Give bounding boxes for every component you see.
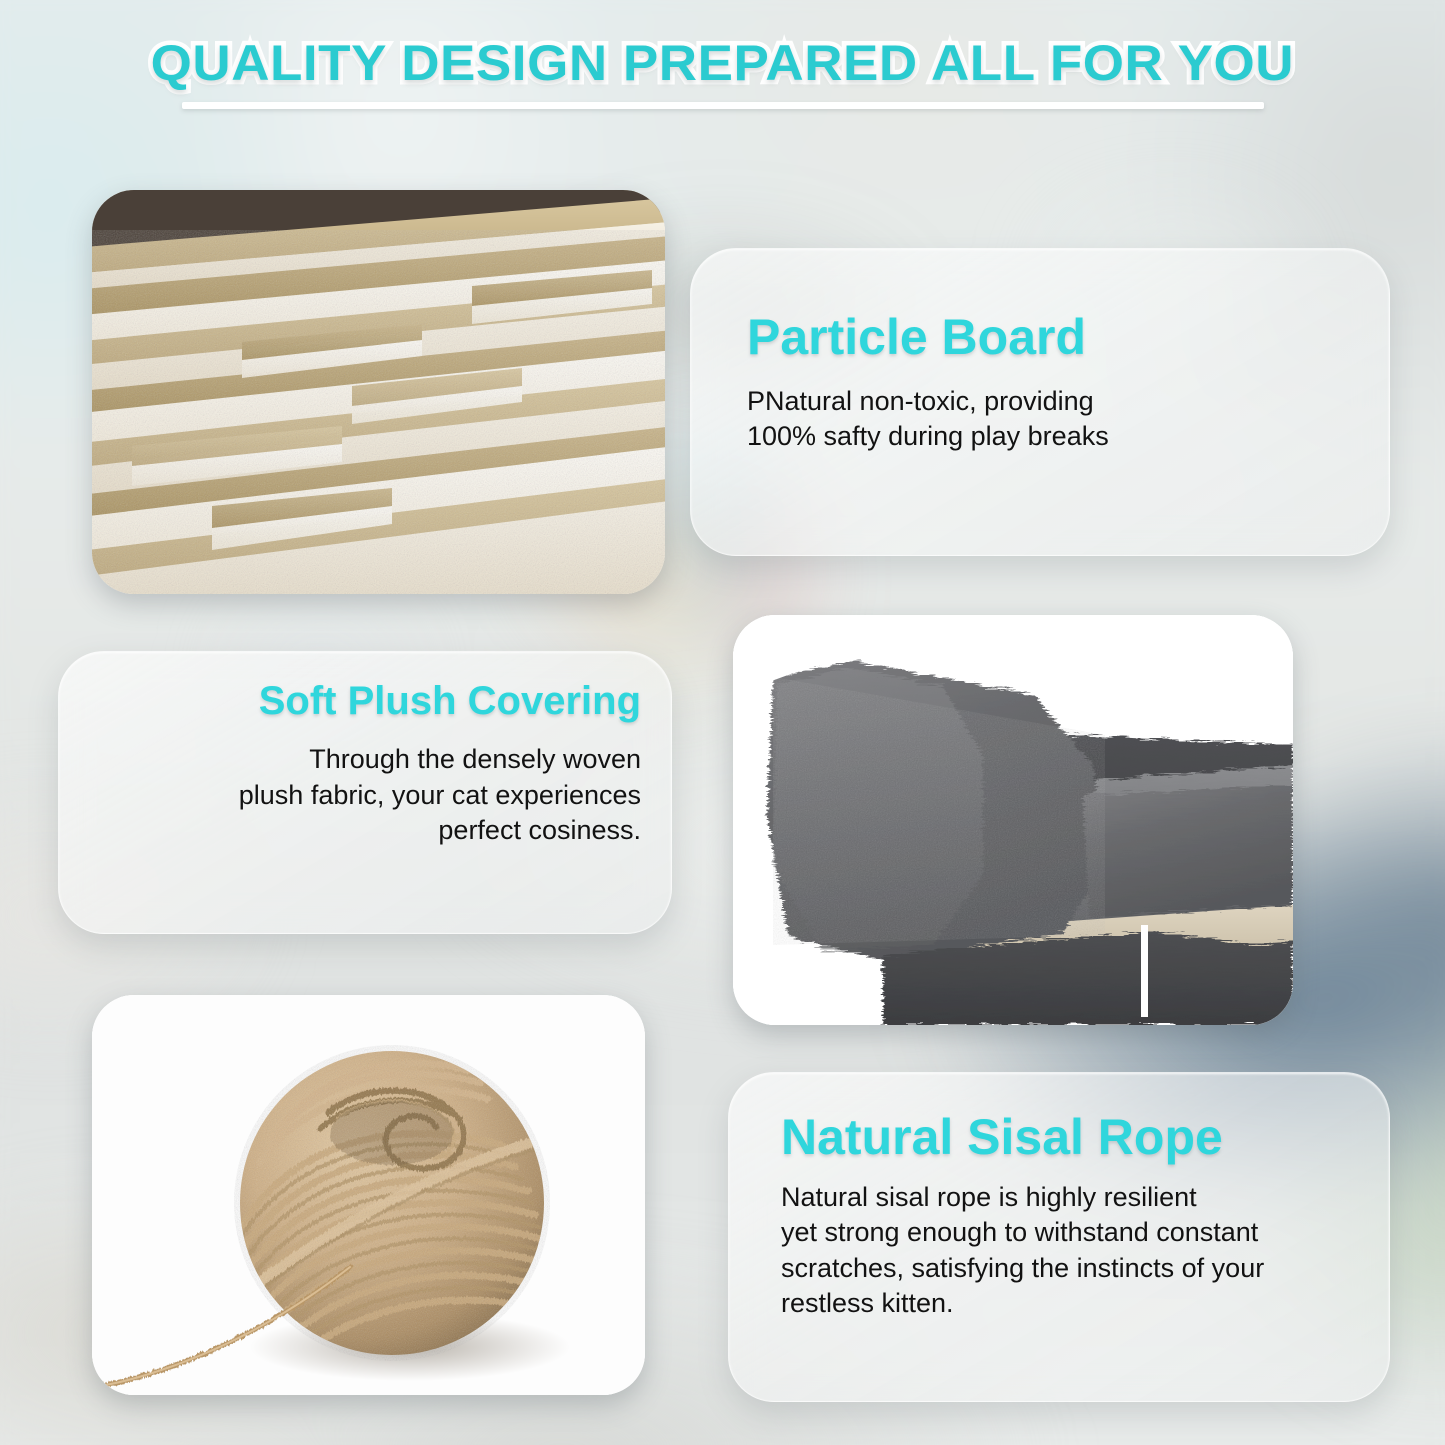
feature-title-soft-plush: Soft Plush Covering bbox=[87, 680, 641, 722]
feature-body-particle-board: PNatural non-toxic, providing 100% safty… bbox=[747, 384, 1389, 455]
plush-fabric-illustration bbox=[733, 615, 1293, 1025]
particle-board-text-card: Particle Board PNatural non-toxic, provi… bbox=[690, 248, 1390, 556]
feature-body-sisal-rope: Natural sisal rope is highly resilient y… bbox=[781, 1180, 1389, 1323]
plush-fabric-image bbox=[733, 615, 1293, 1025]
soft-plush-text-card: Soft Plush Covering Through the densely … bbox=[58, 651, 672, 934]
sisal-rope-text-card: Natural Sisal Rope Natural sisal rope is… bbox=[728, 1072, 1390, 1402]
banner-heading: QUALITY DESIGN PREPARED ALL FOR YOU bbox=[0, 38, 1445, 109]
particle-board-image bbox=[92, 190, 665, 594]
feature-title-sisal-rope: Natural Sisal Rope bbox=[781, 1111, 1389, 1164]
sisal-rope-illustration bbox=[92, 995, 645, 1395]
sisal-rope-photo bbox=[92, 995, 645, 1395]
sisal-rope-image bbox=[92, 995, 645, 1395]
page-title: QUALITY DESIGN PREPARED ALL FOR YOU bbox=[151, 38, 1294, 88]
feature-body-soft-plush: Through the densely woven plush fabric, … bbox=[87, 742, 641, 849]
soft-plush-photo bbox=[733, 615, 1293, 1025]
particle-board-illustration bbox=[92, 190, 665, 594]
title-underline bbox=[182, 102, 1264, 109]
particle-board-photo bbox=[92, 190, 665, 594]
feature-title-particle-board: Particle Board bbox=[747, 311, 1389, 364]
